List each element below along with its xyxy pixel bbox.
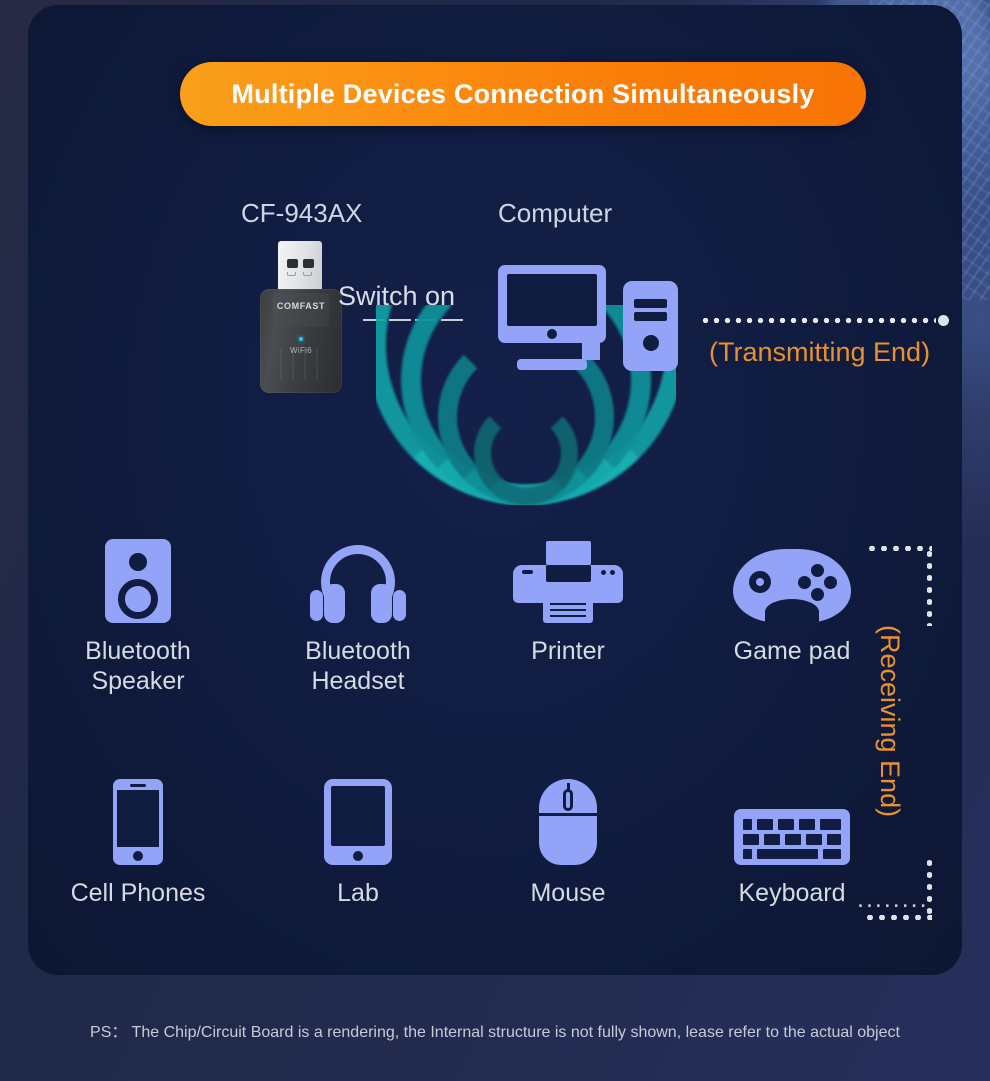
bluetooth-headset-icon <box>263 535 453 623</box>
device-label: Cell Phones <box>43 879 233 909</box>
device-cell-phones[interactable]: Cell Phones <box>43 777 233 909</box>
keyboard-icon <box>697 777 887 865</box>
device-label: Bluetooth Speaker <box>43 637 233 696</box>
cell-phone-icon <box>43 777 233 865</box>
device-mouse[interactable]: Mouse <box>473 777 663 909</box>
gamepad-icon <box>697 535 887 623</box>
banner-title-text: Multiple Devices Connection Simultaneous… <box>231 79 814 110</box>
usb-connector-icon <box>278 241 322 293</box>
device-label: Bluetooth Headset <box>263 637 453 696</box>
device-label: Printer <box>473 637 663 667</box>
receiving-dotted-top <box>866 546 932 551</box>
footnote-text: PS： The Chip/Circuit Board is a renderin… <box>0 1018 990 1042</box>
switch-on-underline <box>363 319 465 321</box>
device-bluetooth-speaker[interactable]: Bluetooth Speaker <box>43 535 233 696</box>
receiving-dotted-right-upper <box>927 548 932 626</box>
dongle-standard-label: WiFi6 <box>260 346 342 355</box>
device-label: Game pad <box>697 637 887 667</box>
pc-tower-icon <box>623 281 678 371</box>
computer-label: Computer <box>498 198 612 229</box>
transmitting-endpoint-dot <box>938 315 949 326</box>
computer-icon <box>498 265 683 377</box>
usb-adapter-image: COMFAST WiFi6 <box>260 241 342 393</box>
device-label: Mouse <box>473 879 663 909</box>
switch-on-label: Switch on <box>338 281 455 312</box>
tablet-icon <box>263 777 453 865</box>
mouse-icon <box>473 777 663 865</box>
usb-body: COMFAST WiFi6 <box>260 289 342 393</box>
transmitting-dotted-line <box>700 318 936 323</box>
device-printer[interactable]: Printer <box>473 535 663 667</box>
receiving-dotted-right-lower <box>927 857 932 919</box>
keyboard-trailing-dots: ........ <box>857 885 929 914</box>
receiving-end-label: (Receiving End) <box>874 625 905 817</box>
content-panel: Multiple Devices Connection Simultaneous… <box>28 5 962 975</box>
bluetooth-speaker-icon <box>43 535 233 623</box>
product-model-label: CF-943AX <box>241 198 362 229</box>
receiving-dotted-bottom <box>864 915 932 920</box>
device-bluetooth-headset[interactable]: Bluetooth Headset <box>263 535 453 696</box>
device-label: Lab <box>263 879 453 909</box>
device-game-pad[interactable]: Game pad <box>697 535 887 667</box>
led-indicator-icon <box>299 337 303 341</box>
printer-icon <box>473 535 663 623</box>
monitor-icon <box>498 265 606 343</box>
device-lab-tablet[interactable]: Lab <box>263 777 453 909</box>
banner-title: Multiple Devices Connection Simultaneous… <box>180 62 866 126</box>
dongle-brand-label: COMFAST <box>260 301 342 311</box>
transmitting-end-label: (Transmitting End) <box>709 337 930 368</box>
